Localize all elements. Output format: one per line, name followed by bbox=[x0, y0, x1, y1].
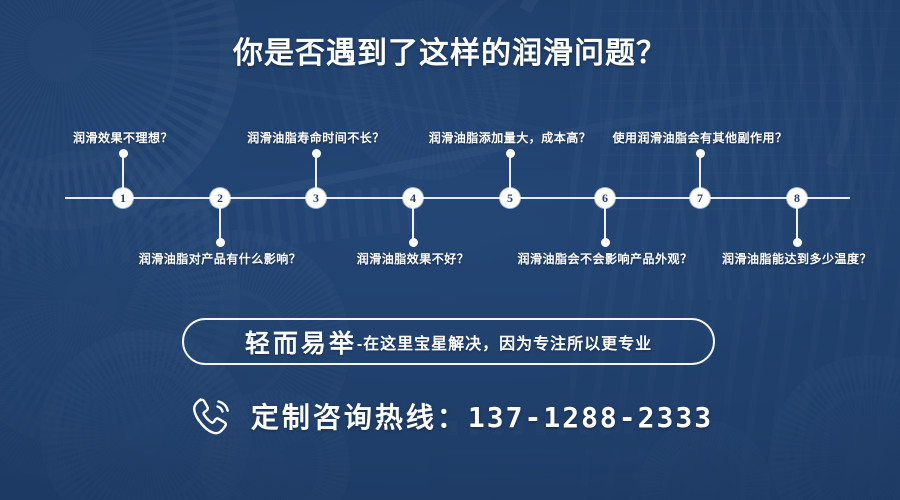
timeline-dot-4 bbox=[409, 238, 418, 247]
timeline-label-1: 润滑效果不理想？ bbox=[73, 129, 173, 146]
timeline-axis bbox=[65, 197, 850, 199]
slogan-rest: -在这里宝星解决，因为专注所以更专业 bbox=[357, 330, 652, 354]
timeline-marker-6: 6 bbox=[595, 188, 615, 208]
timeline-stem-3 bbox=[315, 154, 317, 188]
timeline-node-2[interactable]: 2 润滑油脂对产品有什么影响？ bbox=[210, 188, 230, 208]
timeline-stem-7 bbox=[699, 154, 701, 188]
timeline-dot-6 bbox=[601, 238, 610, 247]
timeline-node-1[interactable]: 润滑效果不理想？ 1 bbox=[113, 188, 133, 208]
timeline-marker-1: 1 bbox=[113, 188, 133, 208]
timeline-node-8[interactable]: 8 润滑油脂能达到多少温度？ bbox=[787, 188, 807, 208]
timeline-dot-8 bbox=[793, 238, 802, 247]
timeline-stem-5 bbox=[509, 154, 511, 188]
timeline-marker-7: 7 bbox=[690, 188, 710, 208]
timeline-label-4: 润滑油脂效果不好？ bbox=[357, 250, 470, 267]
timeline-node-4[interactable]: 4 润滑油脂效果不好？ bbox=[403, 188, 423, 208]
timeline-stem-4 bbox=[412, 208, 414, 242]
timeline-stem-6 bbox=[604, 208, 606, 242]
timeline-node-5[interactable]: 润滑油脂添加量大，成本高？ 5 bbox=[500, 188, 520, 208]
hotline-label: 定制咨询热线： bbox=[251, 402, 468, 433]
timeline-label-2: 润滑油脂对产品有什么影响？ bbox=[139, 250, 302, 267]
timeline-node-6[interactable]: 6 润滑油脂会不会影响产品外观？ bbox=[595, 188, 615, 208]
timeline-marker-3: 3 bbox=[306, 188, 326, 208]
timeline-stem-1 bbox=[122, 154, 124, 188]
phone-ringing-icon bbox=[187, 392, 235, 440]
slogan-emphasis: 轻而易举 bbox=[245, 324, 357, 360]
timeline-dot-2 bbox=[216, 238, 225, 247]
timeline-label-5: 润滑油脂添加量大，成本高？ bbox=[429, 129, 592, 146]
timeline-marker-8: 8 bbox=[787, 188, 807, 208]
timeline-marker-4: 4 bbox=[403, 188, 423, 208]
timeline-label-3: 润滑油脂寿命时间不长？ bbox=[247, 129, 385, 146]
slogan-pill: 轻而易举 -在这里宝星解决，因为专注所以更专业 bbox=[182, 318, 715, 365]
timeline-marker-5: 5 bbox=[500, 188, 520, 208]
timeline-marker-2: 2 bbox=[210, 188, 230, 208]
timeline-label-6: 润滑油脂会不会影响产品外观？ bbox=[517, 250, 692, 267]
lubrication-problems-banner: 你是否遇到了这样的润滑问题？ 润滑效果不理想？ 1 2 润滑油脂对产品有什么影响… bbox=[0, 0, 900, 500]
hotline-text: 定制咨询热线：137-1288-2333 bbox=[251, 396, 713, 436]
hotline-number[interactable]: 137-1288-2333 bbox=[468, 401, 713, 434]
timeline-label-8: 润滑油脂能达到多少温度？ bbox=[722, 250, 872, 267]
timeline-node-3[interactable]: 润滑油脂寿命时间不长？ 3 bbox=[306, 188, 326, 208]
timeline-label-7: 使用润滑油脂会有其他副作用？ bbox=[612, 129, 787, 146]
timeline-stem-8 bbox=[796, 208, 798, 242]
hotline-row[interactable]: 定制咨询热线：137-1288-2333 bbox=[0, 392, 900, 440]
timeline-node-7[interactable]: 使用润滑油脂会有其他副作用？ 7 bbox=[690, 188, 710, 208]
timeline-stem-2 bbox=[219, 208, 221, 242]
